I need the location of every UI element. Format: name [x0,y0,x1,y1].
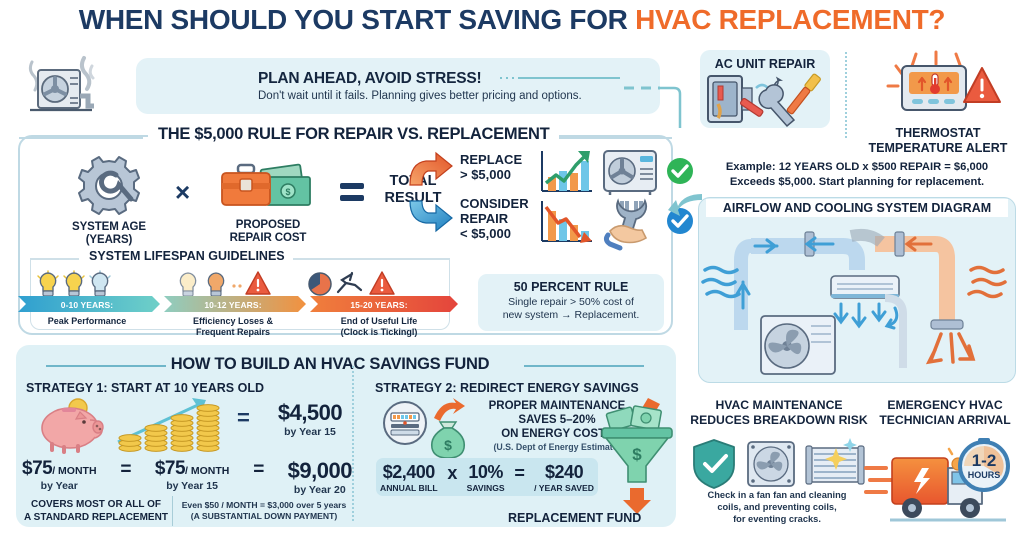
lifespan-stage-0-range: 0-10 YEARS: [22,297,152,312]
factor-cost-line2: REPAIR COST [230,232,307,244]
funnel-icon: $ [600,396,676,516]
factor-system-age: SYSTEM AGE (YEARS) [54,155,164,247]
maint-l1: HVAC MAINTENANCE [715,398,842,412]
connector-arrow-icon [668,192,702,218]
branch-replace-arrow-icon [408,151,454,189]
strategy-divider [352,366,354,521]
branch-replace-label: REPLACE > $5,000 [460,153,522,183]
maintenance-title: HVAC MAINTENANCE REDUCES BREAKDOWN RISK [686,398,872,427]
strategy2-heading: STRATEGY 2: REDIRECT ENERGY SAVINGS [375,381,639,395]
strategy1-monthly-row: $75/ MONTH by Year = $75/ MONTH by Year … [22,458,352,496]
gear-wrench-icon [70,155,148,217]
emergency-badge-unit: HOURS [968,470,1001,480]
strategy1-total: $4,500 by Year 15 [265,400,355,438]
s1-b-sub: by Year 15 [155,480,230,492]
maintenance-caption: Check in a fan fan and cleaning coils, a… [684,489,870,525]
repair-line2: REPAIR [460,211,508,226]
lifespan-stage-1-range: 10-12 YEARS: [168,297,298,312]
s2-a-lbl: ANNUAL BILL [380,483,438,493]
s1-eq2: = [253,458,264,481]
replace-line2: > $5,000 [460,167,511,182]
repair-line3: < $5,000 [460,226,511,241]
ls1-l1: Efficiency Loses & [193,316,273,326]
example-l1: Example: 12 YEARS OLD x $500 REPAIR = $6… [726,161,988,173]
coin-stacks-growth-icon [116,396,224,454]
s2-b-lbl: SAVINGS [467,483,505,493]
s1-a-sub: by Year [22,480,97,492]
s1-b-amount: $75 [155,458,185,479]
factor-repair-cost: $ PROPOSED REPAIR COST [206,157,330,245]
replace-line1: REPLACE [460,152,522,167]
s1-a-unit: / MONTH [52,465,96,477]
airflow-diagram-title: AIRFLOW AND COOLING SYSTEM DIAGRAM [706,199,1008,217]
covers-l1: COVERS MOST OR ALL OF [31,499,161,510]
ac-condenser-icon [22,56,100,116]
ls0-l1: Peak Performance [48,316,127,326]
ls2-l2: (Clock is Tickingl) [341,327,418,337]
service-truck-icon: 1-2 HOURS [866,440,1018,526]
strategy1-equals: = [237,405,250,431]
svg-text:$: $ [632,445,642,464]
rule50-line2: new system → Replacement. [503,309,640,321]
page-title: WHEN SHOULD YOU START SAVING FOR HVAC RE… [0,4,1024,36]
fund-title: HOW TO BUILD AN HVAC SAVINGS FUND [0,355,660,374]
toolbox-money-icon: $ [218,157,318,215]
fan-icon [748,442,794,486]
strategy1-heading: STRATEGY 1: START AT 10 YEARS OLD [26,381,264,395]
right-column-divider [845,52,847,138]
stopwatch-icon: 1-2 HOURS [960,438,1008,490]
growth-chart-icon [538,149,594,197]
s2-c-num: $240 [534,462,594,483]
title-main: WHEN SHOULD YOU START SAVING FOR [79,4,635,35]
maint-cap3: for eventing cracks. [733,514,821,524]
maint-l2: REDUCES BREAKDOWN RISK [690,413,867,427]
s1-c-sub: by Year 20 [288,484,352,496]
factor-cost-line1: PROPOSED [236,219,300,231]
hand-wrench-icon [604,197,658,247]
decline-chart-icon [538,199,594,247]
factor-age-line2: (YEARS) [86,234,133,246]
strategy1-total-amount: $4,500 [265,400,355,426]
emergency-title: EMERGENCY HVAC TECHNICIAN ARRIVAL [870,398,1020,427]
coil-sparkle-icon [806,438,864,484]
svg-text:$: $ [444,437,452,453]
strategy1-covers-note: COVERS MOST OR ALL OF A STANDARD REPLACE… [16,499,176,524]
replacement-fund-label: REPLACEMENT FUND [508,511,641,525]
strategy1-fineprint: Even $50 / MONTH = $3,000 over 5 years (… [176,500,352,522]
thermostat-alert-icon [878,52,1006,124]
branch-repair-label: CONSIDER REPAIR < $5,000 [460,197,529,242]
infographic-root: WHEN SHOULD YOU START SAVING FOR HVAC RE… [0,0,1024,536]
s2-l2: SAVES 5–20% [518,414,595,426]
airflow-diagram-card [698,197,1016,383]
shield-check-icon [694,440,734,488]
s1-b-unit: / MONTH [185,465,229,477]
thermostat-title: THERMOSTAT TEMPERATURE ALERT [858,126,1018,156]
lifespan-title: SYSTEM LIFESPAN GUIDELINES [81,249,293,263]
operator-equals [340,181,364,203]
svg-text:$: $ [285,187,290,197]
s1-eq1: = [120,458,131,481]
covers-l2: A STANDARD REPLACEMENT [24,512,168,523]
piggy-bank-icon [36,398,110,452]
strategy2-calc: $2,400 ANNUAL BILL x 10% SAVINGS = $240 … [380,462,594,493]
strategy1-total-sub: by Year 15 [265,426,355,438]
emerg-l1: EMERGENCY HVAC [887,398,1002,412]
ls1-l2: Frequent Repairs [196,327,270,337]
lifespan-stage-2-caption: End of Useful Life (Clock is Tickingl) [314,316,444,339]
s1-a-amount: $75 [22,458,52,479]
fine-l1: Even $50 / MONTH = $3,000 over 5 years [182,500,347,510]
maint-cap1: Check in a fan fan and cleaning [708,490,847,500]
ac-repair-tools-icon [704,74,826,126]
s2-b-num: 10% [467,462,505,483]
s2-l3: ON ENERGY COSTS [501,428,613,440]
connector-dashed-line [500,74,660,88]
ac-unit-repair-title: AC UNIT REPAIR [700,57,830,71]
new-ac-unit-icon [602,147,658,197]
lifespan-stage-2-range: 15-20 YEARS: [314,297,444,312]
s2-a-num: $2,400 [380,462,438,483]
s2-x: x [447,462,457,484]
emergency-badge-value: 1-2 [972,451,997,470]
maint-cap2: coils, and preventing coils, [717,502,836,512]
ls2-l1: End of Useful Life [341,316,418,326]
s1-c-amount: $9,000 [288,458,352,484]
branch-repair-arrow-icon [408,199,454,239]
emerg-l2: TECHNICIAN ARRIVAL [879,413,1010,427]
thermo-l1: THERMOSTAT [896,126,981,140]
fineprint-divider [172,496,173,526]
rule50-line1: Single repair > 50% cost of [508,296,634,308]
lifespan-stage-0-caption: Peak Performance [22,316,152,327]
lifespan-stage-1-caption: Efficiency Loses & Frequent Repairs [168,316,298,339]
title-highlight: HVAC REPLACEMENT? [635,4,945,35]
s2-c-lbl: / YEAR SAVED [534,483,594,493]
example-calculation: Example: 12 YEARS OLD x $500 REPAIR = $6… [690,160,1024,190]
s2-eq: = [514,462,524,484]
fine-l2: (A SUBSTANTIAL DOWN PAYMENT) [191,511,337,521]
maintenance-icons [692,438,868,490]
rule50-body: Single repair > 50% cost of new system →… [478,296,664,323]
fifty-percent-rule-box: 50 PERCENT RULE Single repair > 50% cost… [478,274,664,331]
thermo-l2: TEMPERATURE ALERT [869,141,1008,155]
example-l2: Exceeds $5,000. Start planning for repla… [730,176,984,188]
energy-meter-icon [382,400,428,446]
rule50-title: 50 PERCENT RULE [478,280,664,294]
factor-age-line1: SYSTEM AGE [72,221,146,233]
rule-card-title: THE $5,000 RULE FOR REPAIR VS. REPLACEME… [148,125,559,144]
repair-line1: CONSIDER [460,196,529,211]
operator-multiply: × [175,177,190,208]
